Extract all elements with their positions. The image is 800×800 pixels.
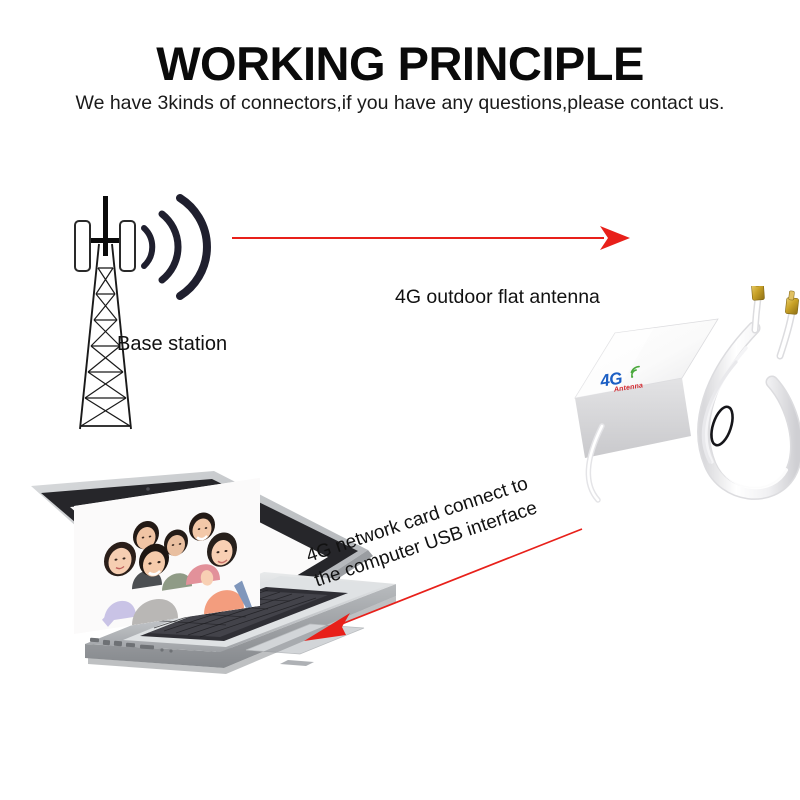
4g-flat-panel-antenna	[558, 286, 800, 506]
connector-tip-2	[785, 291, 799, 315]
arrow-to-antenna	[232, 218, 632, 258]
infographic-page: WORKING PRINCIPLE We have 3kinds of conn…	[0, 0, 800, 800]
connector-tip-1	[751, 286, 764, 300]
base-station-label: Base station	[117, 333, 227, 356]
page-subtitle: We have 3kinds of connectors,if you have…	[0, 92, 800, 115]
signal-waves-icon	[138, 188, 214, 304]
page-title: WORKING PRINCIPLE	[0, 36, 800, 91]
